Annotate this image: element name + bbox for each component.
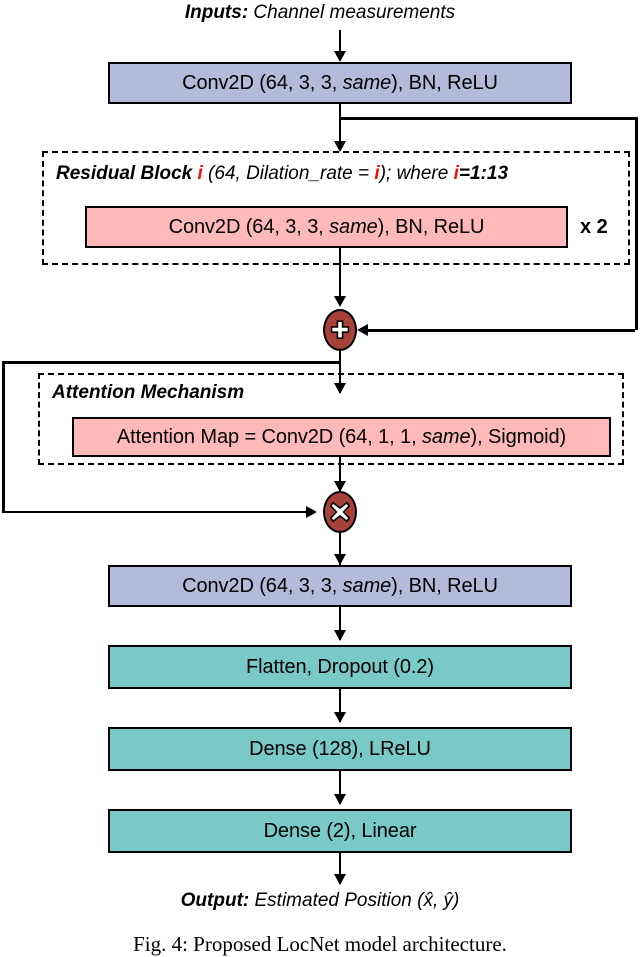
block-conv-top[interactable]: Conv2D (64, 3, 3, same), BN, ReLU bbox=[108, 62, 572, 104]
connector-residual-to-add bbox=[339, 248, 342, 300]
block-attention-map-label: Attention Map = Conv2D (64, 1, 1, same),… bbox=[117, 426, 566, 449]
skip-connection-multiply-horizontal-top bbox=[2, 361, 339, 364]
block-conv-top-label: Conv2D (64, 3, 3, same), BN, ReLU bbox=[182, 72, 498, 95]
skip-connection-add-horizontal-bottom bbox=[365, 329, 635, 332]
skip-connection-add-vertical bbox=[635, 117, 638, 330]
group-attention-mechanism-title: Attention Mechanism bbox=[52, 382, 244, 404]
skip-connection-multiply-vertical bbox=[2, 361, 5, 512]
figure-locnet-architecture: Inputs: Channel measurements Conv2D (64,… bbox=[0, 0, 640, 957]
residual-repeat-count: x 2 bbox=[580, 216, 608, 239]
output-label-text: Estimated Position (x̂, ŷ) bbox=[249, 890, 459, 911]
output-label-bold: Output: bbox=[181, 890, 250, 911]
arrowhead-dense128-to-dense2 bbox=[334, 794, 346, 805]
arrowhead-residual-to-add bbox=[334, 296, 346, 307]
block-dense-128[interactable]: Dense (128), LReLU bbox=[108, 727, 572, 771]
block-dense-2-label: Dense (2), Linear bbox=[264, 820, 417, 843]
block-residual-conv-label: Conv2D (64, 3, 3, same), BN, ReLU bbox=[169, 216, 485, 239]
arrowhead-input-to-conv-top bbox=[334, 51, 346, 62]
arrowhead-skip-to-add bbox=[357, 324, 368, 336]
arrowhead-multiply-to-conv-bottom bbox=[334, 554, 346, 565]
skip-connection-multiply-horizontal-bottom bbox=[2, 511, 307, 514]
figure-caption: Fig. 4: Proposed LocNet model architectu… bbox=[0, 932, 640, 957]
input-label-bold: Inputs: bbox=[185, 2, 248, 23]
block-dense-128-label: Dense (128), LReLU bbox=[249, 738, 431, 761]
arrowhead-conv-bottom-to-flatten bbox=[334, 630, 346, 641]
input-label-text: Channel measurements bbox=[248, 2, 455, 23]
block-attention-map[interactable]: Attention Map = Conv2D (64, 1, 1, same),… bbox=[72, 417, 611, 457]
block-residual-conv[interactable]: Conv2D (64, 3, 3, same), BN, ReLU bbox=[85, 206, 568, 248]
skip-connection-add-horizontal-top bbox=[339, 117, 638, 120]
input-label: Inputs: Channel measurements bbox=[0, 2, 640, 24]
arrowhead-dense2-to-output bbox=[334, 874, 346, 885]
output-label: Output: Estimated Position (x̂, ŷ) bbox=[0, 890, 640, 912]
block-flatten-dropout-label: Flatten, Dropout (0.2) bbox=[246, 656, 434, 679]
arrowhead-flatten-to-dense128 bbox=[334, 712, 346, 723]
plus-icon bbox=[329, 319, 351, 341]
block-conv-bottom[interactable]: Conv2D (64, 3, 3, same), BN, ReLU bbox=[108, 565, 572, 607]
block-flatten-dropout[interactable]: Flatten, Dropout (0.2) bbox=[108, 645, 572, 689]
block-conv-bottom-label: Conv2D (64, 3, 3, same), BN, ReLU bbox=[182, 575, 498, 598]
connector-input-to-conv-top bbox=[339, 30, 342, 52]
arrowhead-skip-to-multiply bbox=[306, 506, 317, 518]
block-dense-2[interactable]: Dense (2), Linear bbox=[108, 809, 572, 853]
multiply-icon bbox=[329, 501, 351, 523]
group-residual-block-title: Residual Block i (64, Dilation_rate = i)… bbox=[56, 163, 508, 185]
operator-multiply-node[interactable] bbox=[323, 491, 357, 533]
operator-add-node[interactable] bbox=[323, 309, 357, 351]
